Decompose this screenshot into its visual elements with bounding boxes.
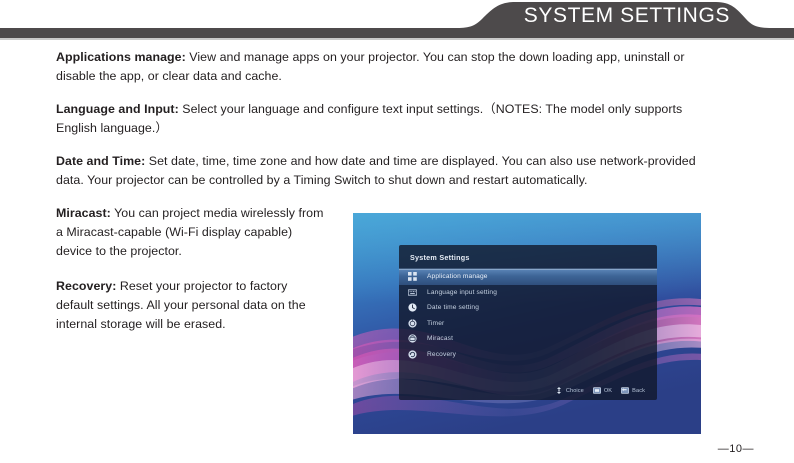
menu-item-label: Language input setting bbox=[427, 289, 497, 296]
hint-choice: Choice bbox=[555, 387, 584, 394]
paragraph-applications-manage: Applications manage: View and manage app… bbox=[56, 48, 711, 86]
hint-ok: OK bbox=[593, 387, 612, 394]
menu-item-language-input-setting[interactable]: Language input setting bbox=[399, 285, 657, 301]
page-number: —10— bbox=[718, 443, 754, 455]
menu-item-label: Recovery bbox=[427, 351, 456, 358]
timer-icon bbox=[408, 319, 417, 328]
term-date-and-time: Date and Time: bbox=[56, 154, 145, 168]
menu-item-label: Application manage bbox=[427, 273, 488, 280]
apps-grid-icon bbox=[408, 272, 417, 281]
recovery-icon bbox=[408, 350, 417, 359]
menu-footer-hints: Choice OK Back bbox=[399, 387, 657, 394]
desc-date-and-time: Set date, time, time zone and how date a… bbox=[56, 154, 696, 187]
menu-item-recovery[interactable]: Recovery bbox=[399, 347, 657, 363]
projector-screen-photo: System Settings Application manage bbox=[353, 213, 701, 434]
paragraph-recovery: Recovery: Reset your projector to factor… bbox=[56, 277, 328, 334]
paragraph-date-and-time: Date and Time: Set date, time, time zone… bbox=[56, 152, 711, 190]
menu-item-miracast[interactable]: Miracast bbox=[399, 331, 657, 347]
menu-item-label: Miracast bbox=[427, 335, 453, 342]
updown-arrow-icon bbox=[555, 387, 563, 394]
paragraph-language-and-input: Language and Input: Select your language… bbox=[56, 100, 711, 138]
ok-key-icon bbox=[593, 387, 601, 394]
hint-back: Back bbox=[621, 387, 645, 394]
menu-item-timer[interactable]: Timer bbox=[399, 316, 657, 332]
paragraph-miracast: Miracast: You can project media wireless… bbox=[56, 204, 328, 261]
term-miracast: Miracast: bbox=[56, 206, 111, 220]
term-applications-manage: Applications manage: bbox=[56, 50, 186, 64]
header-divider bbox=[0, 38, 794, 40]
term-recovery: Recovery: bbox=[56, 279, 116, 293]
clock-icon bbox=[408, 303, 417, 312]
page-title: SYSTEM SETTINGS bbox=[524, 4, 730, 28]
menu-item-application-manage[interactable]: Application manage bbox=[399, 269, 657, 285]
menu-panel-title: System Settings bbox=[410, 253, 470, 262]
hint-label: OK bbox=[604, 388, 612, 394]
hint-label: Choice bbox=[566, 388, 584, 394]
miracast-icon bbox=[408, 334, 417, 343]
menu-item-label: Date time setting bbox=[427, 304, 479, 311]
menu-item-date-time-setting[interactable]: Date time setting bbox=[399, 300, 657, 316]
settings-menu-list: Application manage Language input settin… bbox=[399, 269, 657, 362]
system-settings-menu-panel: System Settings Application manage bbox=[399, 245, 657, 400]
menu-item-label: Timer bbox=[427, 320, 444, 327]
term-language-and-input: Language and Input: bbox=[56, 102, 179, 116]
back-key-icon bbox=[621, 387, 629, 394]
keyboard-icon bbox=[408, 288, 417, 297]
hint-label: Back bbox=[632, 388, 645, 394]
page-header: SYSTEM SETTINGS bbox=[0, 0, 794, 42]
left-text-column: Miracast: You can project media wireless… bbox=[56, 204, 328, 334]
